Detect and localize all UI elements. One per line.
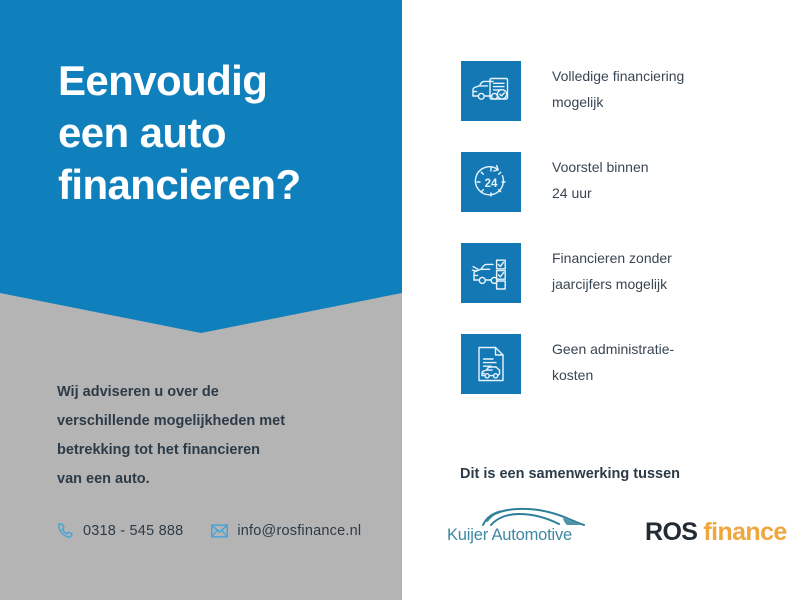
advice-paragraph: Wij adviseren u over de verschillende mo… [57,378,367,494]
page-title: Eenvoudig een auto financieren? [58,55,388,211]
hero-blue-chevron-panel: Eenvoudig een auto financieren? [0,0,402,333]
logo-ros-finance[interactable]: ROSfinance [645,518,787,550]
hero-line-3: financieren? [58,159,388,211]
feature-label: Voorstel binnen 24 uur [552,152,772,206]
partnership-heading: Dit is een samenwerking tussen [460,466,680,482]
feature-label: Volledige financiering mogelijk [552,61,772,115]
email-address: info@rosfinance.nl [237,523,361,539]
feature-label-line-2: jaarcijfers mogelijk [552,271,772,297]
contact-email[interactable]: info@rosfinance.nl [211,522,361,539]
ros-wordmark: ROS [645,518,697,546]
advice-line-2: verschillende mogelijkheden met [57,407,367,436]
feature-label-line-2: kosten [552,362,772,388]
contact-phone[interactable]: 0318 - 545 888 [57,522,183,539]
phone-number: 0318 - 545 888 [83,523,183,539]
feature-label: Geen administratie- kosten [552,334,772,388]
feature-label-line-1: Geen administratie- [552,336,772,362]
feature-label-line-2: 24 uur [552,180,772,206]
right-panel: Volledige financiering mogelijk 24 [402,0,800,600]
kuijer-automotive-name: Kuijer Automotive [447,526,595,545]
feature-item-financieren-zonder-jaarcijfers: Financieren zonder jaarcijfers mogelijk [461,243,772,303]
partner-logos: Kuijer Automotive ROSfinance [447,502,787,550]
logo-kuijer-automotive[interactable]: Kuijer Automotive [447,502,595,550]
clock-24-hours-icon: 24 [461,152,521,212]
feature-label-line-1: Financieren zonder [552,245,772,271]
feature-label-line-1: Voorstel binnen [552,154,772,180]
finance-wordmark: finance [703,518,786,546]
hero-line-2: een auto [58,107,388,159]
contact-row: 0318 - 545 888 info@rosfinance.nl [57,522,361,539]
car-document-check-icon [461,61,521,121]
hero-line-1: Eenvoudig [58,55,388,107]
envelope-icon [211,522,228,539]
feature-item-voorstel-binnen-24-uur: 24 Voorstel binnen 24 uur [461,152,772,212]
left-panel: Eenvoudig een auto financieren? Wij advi… [0,0,402,600]
advice-line-4: van een auto. [57,465,367,494]
poster-canvas: Eenvoudig een auto financieren? Wij advi… [0,0,800,600]
feature-item-geen-administratiekosten: Geen administratie- kosten [461,334,772,394]
feature-label-line-2: mogelijk [552,89,772,115]
feature-list: Volledige financiering mogelijk 24 [461,61,772,425]
car-checklist-icon [461,243,521,303]
advice-line-3: betrekking tot het financieren [57,436,367,465]
feature-item-volledige-financiering: Volledige financiering mogelijk [461,61,772,121]
phone-icon [57,522,74,539]
feature-label-line-1: Volledige financiering [552,63,772,89]
advice-line-1: Wij adviseren u over de [57,378,367,407]
feature-label: Financieren zonder jaarcijfers mogelijk [552,243,772,297]
document-car-icon [461,334,521,394]
clock-badge-24: 24 [485,178,498,190]
